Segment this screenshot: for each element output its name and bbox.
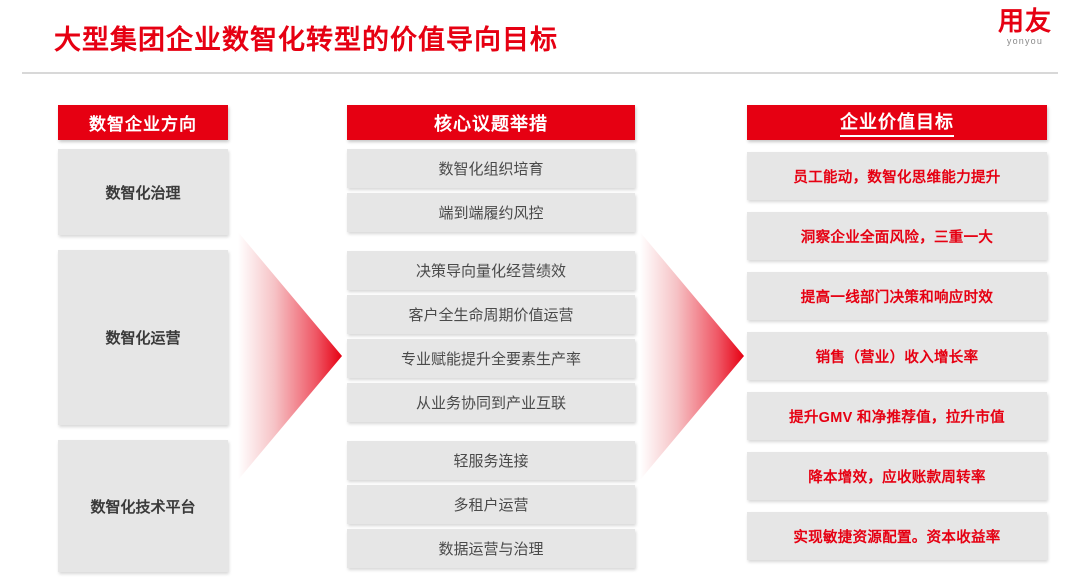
goal-item-label: 销售（营业）收入增长率 (816, 346, 979, 367)
direction-item-governance-label: 数智化治理 (105, 182, 180, 203)
slide-canvas: 大型集团企业数智化转型的价值导向目标 用友 yonyou 数智企业方向 数智化治… (0, 0, 1080, 586)
topic-group-governance: 数智化组织培育 端到端履约风控 (347, 149, 635, 232)
topic-item[interactable]: 客户全生命周期价值运营 (347, 295, 635, 334)
column-header-value-goals: 企业价值目标 (747, 105, 1047, 140)
topic-group-operations: 决策导向量化经营绩效 客户全生命周期价值运营 专业赋能提升全要素生产率 从业务协… (347, 251, 635, 422)
goal-item[interactable]: 洞察企业全面风险，三重一大 (747, 212, 1047, 260)
topic-item[interactable]: 数据运营与治理 (347, 529, 635, 568)
topic-item-label: 轻服务连接 (453, 450, 528, 471)
column-header-value-goals-label: 企业价值目标 (840, 108, 954, 137)
direction-item-tech-platform[interactable]: 数智化技术平台 (58, 440, 228, 572)
goal-item-label: 员工能动，数智化思维能力提升 (793, 166, 1000, 187)
column-direction: 数智企业方向 数智化治理 数智化运营 数智化技术平台 (58, 105, 228, 572)
topic-item-label: 客户全生命周期价值运营 (408, 304, 573, 325)
arrow-topics-to-goals-icon (640, 232, 744, 480)
topic-item-label: 数智化组织培育 (438, 158, 543, 179)
topic-item-label: 从业务协同到产业互联 (416, 392, 566, 413)
topic-item-label: 决策导向量化经营绩效 (416, 260, 566, 281)
column-header-direction-label: 数智企业方向 (89, 110, 197, 135)
goal-item-label: 实现敏捷资源配置。资本收益率 (793, 526, 1000, 547)
topic-item-label: 多租户运营 (453, 494, 528, 515)
direction-item-operations[interactable]: 数智化运营 (58, 250, 228, 425)
topic-item[interactable]: 决策导向量化经营绩效 (347, 251, 635, 290)
logo-wordmark: 用友 (988, 8, 1062, 35)
column-value-goals: 企业价值目标 员工能动，数智化思维能力提升 洞察企业全面风险，三重一大 提高一线… (747, 105, 1047, 560)
goal-item[interactable]: 实现敏捷资源配置。资本收益率 (747, 512, 1047, 560)
topic-item[interactable]: 专业赋能提升全要素生产率 (347, 339, 635, 378)
topic-item[interactable]: 从业务协同到产业互联 (347, 383, 635, 422)
title-divider (22, 72, 1058, 74)
column-header-core-topics-label: 核心议题举措 (434, 110, 548, 136)
topic-item[interactable]: 端到端履约风控 (347, 193, 635, 232)
brand-logo: 用友 yonyou (988, 8, 1062, 46)
logo-subtitle: yonyou (988, 36, 1062, 46)
goal-item[interactable]: 销售（营业）收入增长率 (747, 332, 1047, 380)
column-header-core-topics: 核心议题举措 (347, 105, 635, 140)
topic-item-label: 数据运营与治理 (438, 538, 543, 559)
goal-item[interactable]: 提高一线部门决策和响应时效 (747, 272, 1047, 320)
direction-item-governance[interactable]: 数智化治理 (58, 149, 228, 235)
topic-item-label: 端到端履约风控 (438, 202, 543, 223)
column-header-direction: 数智企业方向 (58, 105, 228, 140)
direction-item-tech-platform-label: 数智化技术平台 (90, 496, 195, 517)
goal-item[interactable]: 员工能动，数智化思维能力提升 (747, 152, 1047, 200)
page-title: 大型集团企业数智化转型的价值导向目标 (54, 18, 558, 57)
direction-item-operations-label: 数智化运营 (105, 327, 180, 348)
goal-item-label: 提升GMV 和净推荐值，拉升市值 (789, 406, 1005, 427)
topic-item[interactable]: 多租户运营 (347, 485, 635, 524)
goal-item-label: 降本增效，应收账款周转率 (808, 466, 986, 487)
goal-item[interactable]: 降本增效，应收账款周转率 (747, 452, 1047, 500)
topic-group-platform: 轻服务连接 多租户运营 数据运营与治理 (347, 441, 635, 568)
column-core-topics: 核心议题举措 数智化组织培育 端到端履约风控 决策导向量化经营绩效 客户全生命周… (347, 105, 635, 568)
goal-item-label: 提高一线部门决策和响应时效 (801, 286, 993, 307)
topic-item-label: 专业赋能提升全要素生产率 (401, 348, 581, 369)
topic-item[interactable]: 数智化组织培育 (347, 149, 635, 188)
arrow-direction-to-topics-icon (238, 232, 342, 480)
goal-item[interactable]: 提升GMV 和净推荐值，拉升市值 (747, 392, 1047, 440)
goal-item-label: 洞察企业全面风险，三重一大 (801, 226, 993, 247)
topic-item[interactable]: 轻服务连接 (347, 441, 635, 480)
